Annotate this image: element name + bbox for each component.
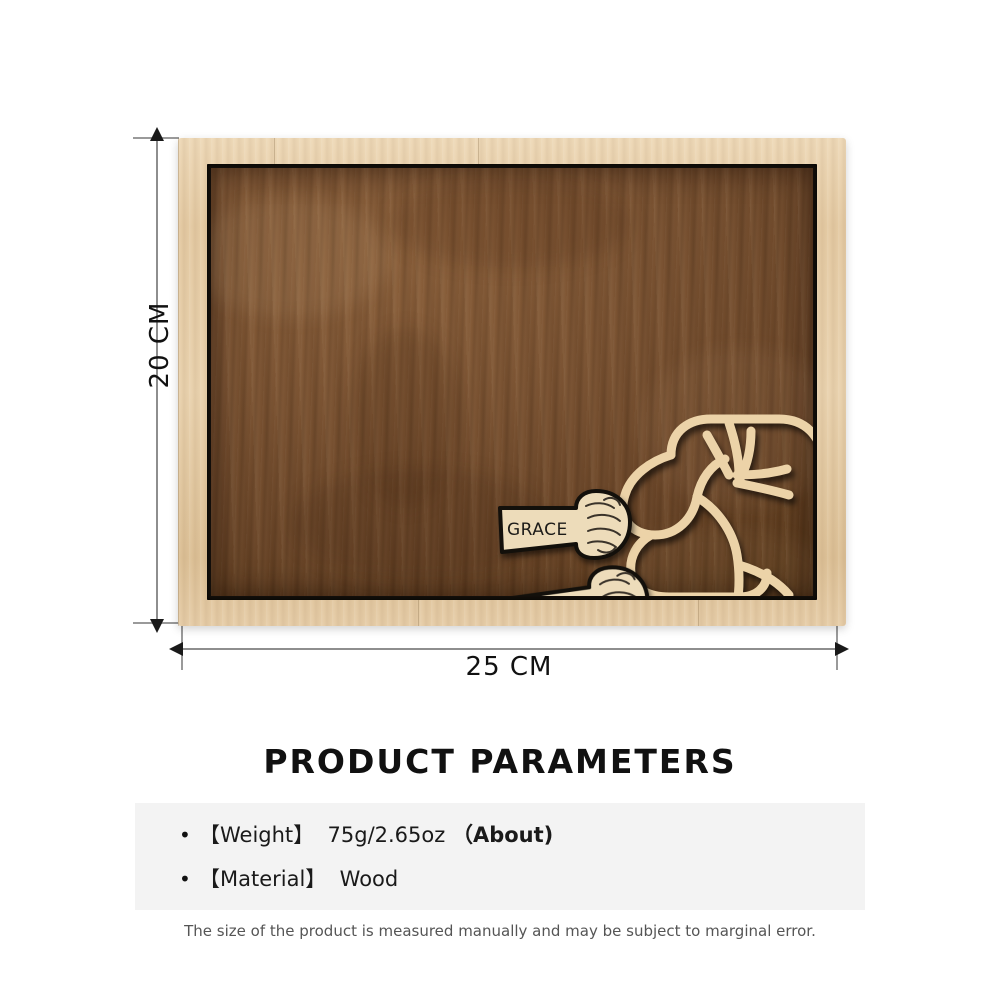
parameter-value: Wood <box>326 867 398 891</box>
parameter-value: 75g/2.65oz <box>314 823 452 847</box>
bullet-icon: • <box>179 825 199 845</box>
parameter-key: 【Material】 <box>199 863 326 893</box>
parameter-key: 【Weight】 <box>199 819 314 849</box>
product-parameters-heading: PRODUCT PARAMETERS <box>0 742 1000 781</box>
product-photo: 20 CM 25 CM <box>0 0 1000 700</box>
parameter-note: （About) <box>452 819 553 849</box>
width-dimension-arrow <box>182 648 836 650</box>
parameter-row-material: • 【Material】 Wood <box>179 863 865 893</box>
frame-inner-bevel: GRACE ROB <box>207 164 817 600</box>
measurement-disclaimer: The size of the product is measured manu… <box>0 922 1000 940</box>
bullet-icon: • <box>179 869 199 889</box>
width-dimension-label: 25 CM <box>182 652 836 682</box>
name-fist-label: GRACE <box>507 520 568 540</box>
product-parameters-list: • 【Weight】 75g/2.65oz （About) • 【Materia… <box>135 803 865 893</box>
parameter-row-weight: • 【Weight】 75g/2.65oz （About) <box>179 819 865 849</box>
height-dimension-label: 20 CM <box>145 285 175 405</box>
wooden-frame: GRACE ROB <box>178 138 846 626</box>
product-parameters-panel: • 【Weight】 75g/2.65oz （About) • 【Materia… <box>135 803 865 910</box>
wood-panel-background: GRACE ROB <box>211 168 813 596</box>
name-fist-grace: GRACE <box>494 488 639 568</box>
